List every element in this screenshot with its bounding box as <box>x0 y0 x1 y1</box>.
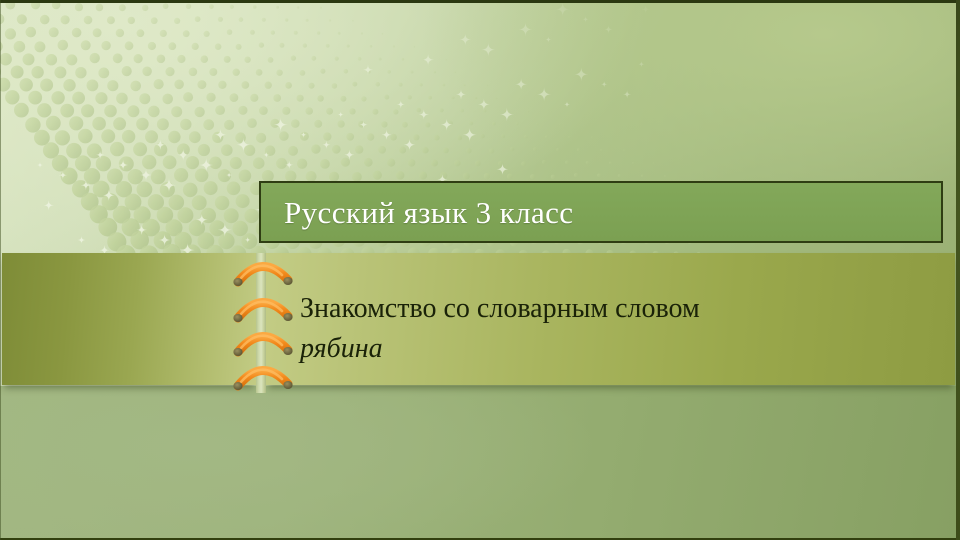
spiral-binding-rings <box>228 252 298 394</box>
subtitle-text-block[interactable]: Знакомство со словарным словом рябина <box>300 289 920 369</box>
page-title: Русский язык 3 класс <box>261 197 573 228</box>
slide-edge-right <box>956 0 960 540</box>
subtitle-line-1: Знакомство со словарным словом <box>300 293 700 324</box>
slide-background-lower <box>0 386 958 538</box>
subtitle-line-2: рябина <box>300 329 920 369</box>
title-box[interactable]: Русский язык 3 класс <box>259 181 943 243</box>
band-panel-left <box>2 253 256 385</box>
slide-edge-top <box>0 0 960 3</box>
slide-edge-left <box>0 0 1 540</box>
presentation-slide: Русский язык 3 класс Знакомство со слова… <box>0 0 960 540</box>
